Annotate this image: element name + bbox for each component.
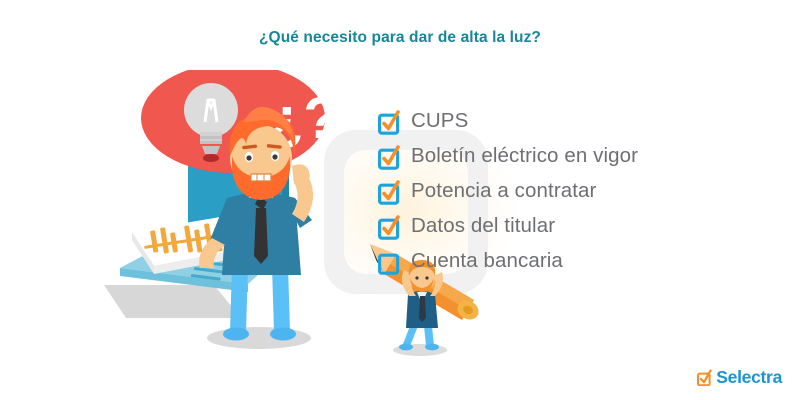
checkbox-checked-icon[interactable] [378, 109, 400, 135]
checkbox-unchecked-icon[interactable] [378, 249, 400, 275]
screenshot-canvas: ¿Qué necesito para dar de alta la luz? [0, 0, 800, 400]
selectra-logo[interactable]: Selectra [697, 369, 782, 387]
list-item[interactable]: Potencia a contratar [378, 174, 778, 209]
list-item[interactable]: Cuenta bancaria [378, 244, 778, 279]
list-item[interactable]: CUPS [378, 104, 778, 139]
list-item[interactable]: Datos del titular [378, 209, 778, 244]
laptop-shadow [104, 285, 241, 318]
selectra-checkbox-icon [697, 369, 712, 386]
list-item-label: Boletín eléctrico en vigor [411, 146, 638, 167]
list-item-label: Datos del titular [411, 216, 555, 237]
selectra-logo-text: Selectra [716, 369, 782, 387]
checkbox-checked-icon[interactable] [378, 144, 400, 170]
page-title: ¿Qué necesito para dar de alta la luz? [0, 29, 800, 47]
checkbox-checked-icon[interactable] [378, 179, 400, 205]
requirements-checklist: CUPS Boletín eléctrico en vigor Potencia… [378, 104, 778, 279]
list-item[interactable]: Boletín eléctrico en vigor [378, 139, 778, 174]
man-shadow [207, 327, 311, 349]
list-item-label: Cuenta bancaria [411, 251, 563, 272]
list-item-label: Potencia a contratar [411, 181, 596, 202]
list-item-label: CUPS [411, 111, 468, 132]
checkbox-checked-icon[interactable] [378, 214, 400, 240]
